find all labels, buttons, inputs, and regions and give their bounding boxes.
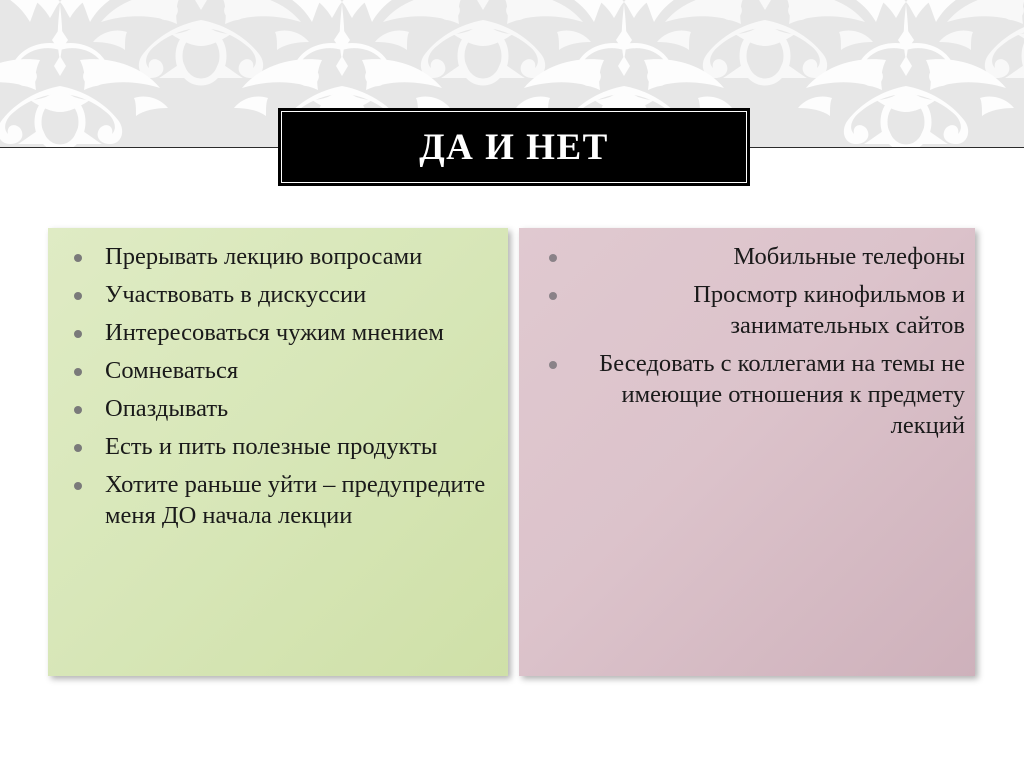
list-item: Есть и пить полезные продукты: [56, 432, 492, 463]
list-item-label: Хотите раньше уйти – предупредите меня Д…: [105, 471, 485, 529]
list-item: Беседовать с коллегами на темы не имеющи…: [533, 349, 965, 442]
page-title: ДА И НЕТ: [419, 129, 609, 166]
list-item-label: Опаздывать: [105, 395, 228, 422]
no-column-panel: Мобильные телефоны Просмотр кинофильмов …: [519, 228, 975, 676]
list-item-label: Сомневаться: [105, 357, 238, 384]
list-item-label: Есть и пить полезные продукты: [105, 433, 437, 460]
list-item: Интересоваться чужим мнением: [56, 318, 492, 349]
bullet-dot-icon: [74, 482, 82, 490]
bullet-dot-icon: [74, 444, 82, 452]
list-item-label: Прерывать лекцию вопросами: [105, 243, 422, 270]
bullet-dot-icon: [74, 406, 82, 414]
slide-title-plate-inner-border: ДА И НЕТ: [281, 111, 747, 183]
bullet-dot-icon: [549, 361, 557, 369]
bullet-dot-icon: [549, 292, 557, 300]
bullet-dot-icon: [74, 254, 82, 262]
bullet-dot-icon: [74, 330, 82, 338]
list-item: Просмотр кинофильмов и занимательных сай…: [533, 280, 965, 342]
no-bullet-list: Мобильные телефоны Просмотр кинофильмов …: [533, 242, 965, 442]
yes-bullet-list: Прерывать лекцию вопросами Участвовать в…: [56, 242, 492, 532]
list-item-label: Просмотр кинофильмов и занимательных сай…: [693, 281, 965, 339]
bullet-dot-icon: [549, 254, 557, 262]
list-item-label: Интересоваться чужим мнением: [105, 319, 444, 346]
list-item-label: Беседовать с коллегами на темы не имеющи…: [599, 350, 965, 439]
list-item: Хотите раньше уйти – предупредите меня Д…: [56, 470, 492, 532]
list-item-label: Мобильные телефоны: [733, 243, 965, 270]
list-item: Опаздывать: [56, 394, 492, 425]
slide-title-plate: ДА И НЕТ: [278, 108, 750, 186]
list-item: Сомневаться: [56, 356, 492, 387]
list-item: Участвовать в дискуссии: [56, 280, 492, 311]
list-item: Мобильные телефоны: [533, 242, 965, 273]
bullet-dot-icon: [74, 292, 82, 300]
bullet-dot-icon: [74, 368, 82, 376]
list-item-label: Участвовать в дискуссии: [105, 281, 366, 308]
yes-column-panel: Прерывать лекцию вопросами Участвовать в…: [48, 228, 508, 676]
list-item: Прерывать лекцию вопросами: [56, 242, 492, 273]
